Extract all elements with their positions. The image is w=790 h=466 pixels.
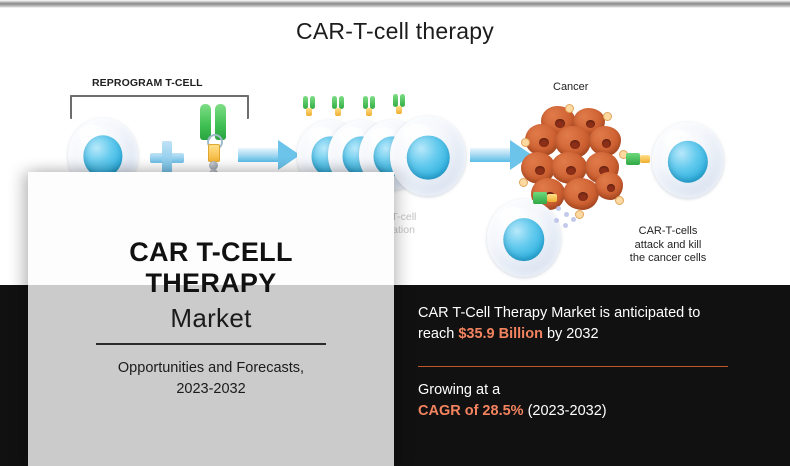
card-note-line1: Opportunities and Forecasts, (28, 358, 394, 379)
granule-4 (563, 223, 568, 228)
orange-divider (418, 366, 728, 367)
attack-label-line1: CAR-T-cells (603, 225, 733, 239)
screenshot-root: CAR-T-cell therapy REPROGRAM T-CELL (0, 0, 790, 466)
granule-1 (556, 206, 561, 211)
receptor-icon-1 (302, 96, 316, 122)
granule-2 (564, 212, 569, 217)
attack-receptor-bottom (533, 192, 559, 204)
receptor-icon-3 (362, 96, 376, 122)
cagr-line2: CAGR of 28.5% (2023-2032) (418, 401, 738, 422)
car-t-cell-replica-4 (390, 116, 466, 196)
attack-label-line2: attack and kill (603, 239, 733, 253)
receptor-icon-2 (331, 96, 345, 122)
card-title: CAR T-CELL THERAPY (28, 237, 394, 299)
plus-icon (150, 141, 184, 175)
t-cell-gloss (79, 125, 106, 144)
cagr-highlight: CAGR of 28.5% (418, 403, 524, 419)
card-note-line2: 2023-2032 (28, 379, 394, 400)
cagr-statement: Growing at a CAGR of 28.5% (2023-2032) (418, 380, 738, 422)
granule-5 (571, 217, 576, 222)
cagr-text-part2: (2023-2032) (524, 403, 607, 419)
card-note: Opportunities and Forecasts, 2023-2032 (28, 358, 394, 400)
attack-label: CAR-T-cells attack and kill the cancer c… (603, 225, 733, 266)
report-cover-card: CAR T-CELL THERAPY Market Opportunities … (28, 172, 394, 466)
reprogram-label: REPROGRAM T-CELL (92, 77, 203, 89)
attack-receptor-right (626, 153, 652, 165)
receptor-icon-4 (392, 94, 406, 120)
diagram-title: CAR-T-cell therapy (0, 18, 790, 45)
card-title-line2: THERAPY (28, 268, 394, 299)
attack-label-line3: the cancer cells (603, 252, 733, 266)
card-divider (96, 343, 326, 345)
market-value-statement: CAR T-Cell Therapy Market is anticipated… (418, 303, 738, 345)
attacking-t-cell-right (652, 122, 724, 198)
top-gradient-bar (0, 0, 790, 8)
cagr-text-part1: Growing at a (418, 380, 738, 401)
granule-3 (554, 218, 559, 223)
card-subtitle: Market (28, 303, 394, 334)
market-text-part2: by 2032 (543, 326, 599, 342)
market-value-highlight: $35.9 Billion (458, 326, 543, 342)
attacking-t-cell-bottom (487, 199, 561, 277)
cancer-label: Cancer (553, 81, 588, 93)
card-title-line1: CAR T-CELL (28, 237, 394, 268)
arrow-right-1-icon (238, 140, 300, 170)
